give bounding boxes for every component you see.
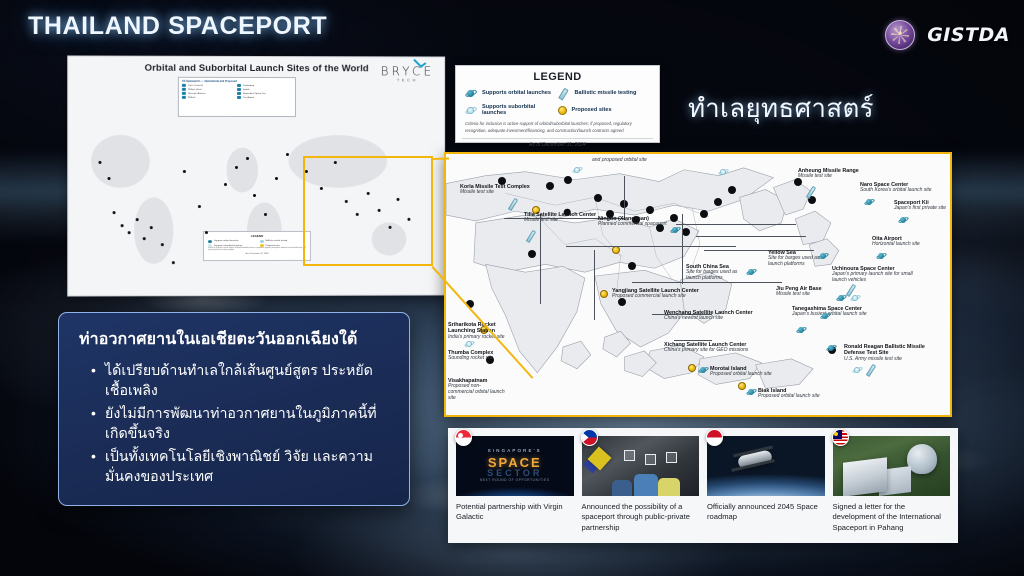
slide-title: THAILAND SPACEPORT — [28, 12, 327, 41]
panel-bullet-list: ได้เปรียบด้านทำเลใกล้เส้นศูนย์สูตร ประหย… — [79, 362, 391, 488]
map-label-morotai: Morotai Island Proposed orbital launch s… — [710, 366, 772, 378]
photo-thumbnail — [707, 436, 825, 496]
divider — [462, 138, 653, 139]
photo-card-philippines[interactable]: Announced the possibility of a spaceport… — [582, 436, 700, 537]
orbital-planet-icon — [465, 89, 477, 98]
legend-criteria-note: Criteria for inclusion is active support… — [456, 121, 659, 134]
thai-headline: ทำเลยุทธศาสตร์ — [688, 88, 874, 129]
map-label-korla: Korla Missile Test Complex Missile test … — [460, 184, 530, 196]
map-label-uchinoura: Uchinoura Space Center Japan's primary l… — [832, 266, 928, 284]
country-photo-strip: SINGAPORE'S SPACE SECTOR NEXT ROUND OF O… — [448, 428, 958, 543]
presentation-slide: THAILAND SPACEPORT GISTDA ทำเลยุทธศาสตร์… — [0, 0, 1024, 576]
legend-date: As of December 31, 2024 — [456, 142, 659, 148]
map-label-naro: Naro Space Center South Korea's orbital … — [860, 182, 932, 194]
photo-caption: Signed a letter for the development of t… — [833, 502, 951, 533]
legend-label: Proposed sites — [572, 107, 612, 113]
panel-heading: ท่าอวกาศยานในเอเชียตะวันออกเฉียงใต้ — [79, 327, 391, 352]
legend-title: LEGEND — [456, 71, 659, 83]
map-label-visakhapatnam: Visakhapatnam Proposed non-commercial or… — [448, 378, 506, 402]
thai-content-panel: ท่าอวกาศยานในเอเชียตะวันออกเฉียงใต้ ได้เ… — [58, 312, 410, 506]
logo-group: GISTDA — [885, 20, 1010, 50]
asia-detail-map[interactable]: and proposed orbital site — [444, 152, 952, 417]
list-item: ยังไม่มีการพัฒนาท่าอวกาศยานในภูมิภาคนี้ท… — [91, 405, 391, 444]
asia-map-annotations: and proposed orbital site — [446, 154, 950, 415]
map-label-jiu-peng: Jiu Peng Air Base Missile test site — [776, 286, 822, 298]
legend-card: LEGEND Supports orbital launches Ballist… — [455, 65, 660, 143]
photo-thumbnail — [833, 436, 951, 496]
legend-label: Ballistic missile testing — [575, 90, 637, 96]
map-label-spaceport-kii: Spaceport Kii Japan's first private site — [894, 200, 946, 212]
map-label-yangjiang: Yangjiang Satellite Launch Center Propos… — [612, 288, 699, 300]
map-label-wenchang: Wenchang Satellite Launch Center China's… — [664, 310, 753, 322]
photo-card-malaysia[interactable]: Signed a letter for the development of t… — [833, 436, 951, 537]
world-map-body: US Spaceports — Operational and Proposed… — [72, 75, 440, 292]
art-line-3: SECTOR — [456, 468, 574, 478]
philippines-flag-icon — [581, 429, 598, 446]
list-item: เป็นทั้งเทคโนโลยีเชิงพาณิชย์ วิจัย และคว… — [91, 448, 391, 487]
spacecraft-orbit-art — [707, 436, 825, 496]
map-label-ronald-reagan: Ronald Reagan Ballistic Missile Defense … — [844, 344, 942, 363]
photo-caption: Announced the possibility of a spaceport… — [582, 502, 700, 533]
art-line-4: NEXT ROUND OF OPPORTUNITIES — [456, 478, 574, 482]
legend-label: Supports orbital launches — [482, 90, 551, 96]
suborbital-planet-icon — [465, 106, 477, 115]
photo-card-indonesia[interactable]: Officially announced 2045 Space roadmap — [707, 436, 825, 537]
map-label-tanegashima: Tanegashima Space Center Japan's busiest… — [792, 306, 892, 318]
photo-caption: Potential partnership with Virgin Galact… — [456, 502, 574, 523]
legend-label: Supports suborbital launches — [482, 104, 558, 116]
map-label-south-china-sea: South China Sea Site for barges used as … — [686, 264, 750, 282]
malaysia-flag-icon — [832, 429, 849, 446]
legend-item-missile: Ballistic missile testing — [558, 88, 651, 98]
proposed-dot-icon — [558, 106, 567, 115]
singapore-space-sector-art: SINGAPORE'S SPACE SECTOR NEXT ROUND OF O… — [456, 436, 574, 496]
royal-seal-icon — [885, 20, 915, 50]
satellite-assembly-art — [582, 436, 700, 496]
photo-thumbnail: SINGAPORE'S SPACE SECTOR NEXT ROUND OF O… — [456, 436, 574, 496]
map-label-thumba: Thumba Complex Sounding rocket site — [448, 350, 500, 362]
observatory-building-art — [833, 436, 951, 496]
world-map-markers — [72, 75, 440, 292]
singapore-flag-icon — [455, 429, 472, 446]
asia-top-note: and proposed orbital site — [592, 157, 647, 163]
missile-icon — [558, 88, 570, 98]
map-label-tilla: Tilla Satellite Launch Center Missile te… — [524, 212, 596, 224]
photo-thumbnail — [582, 436, 700, 496]
photo-caption: Officially announced 2045 Space roadmap — [707, 502, 825, 523]
legend-item-suborbital: Supports suborbital launches — [465, 104, 558, 116]
legend-item-proposed: Proposed sites — [558, 104, 651, 116]
map-label-xichang: Xichang Satellite Launch Center China's … — [664, 342, 748, 354]
map-label-ningbo: Ningbo (Xiangshan) Planned commercial sp… — [598, 216, 670, 228]
legend-items: Supports orbital launches Ballistic miss… — [456, 83, 659, 122]
map-label-biak: Biak Island Proposed orbital launch site — [758, 388, 820, 400]
map-label-oita: Oita Airport Horizontal launch site — [872, 236, 920, 248]
map-label-anheung: Anheung Missile Range Missile test site — [798, 168, 859, 180]
art-line-1: SINGAPORE'S — [456, 448, 574, 453]
list-item: ได้เปรียบด้านทำเลใกล้เส้นศูนย์สูตร ประหย… — [91, 362, 391, 401]
gistda-wordmark: GISTDA — [927, 24, 1010, 46]
photo-card-singapore[interactable]: SINGAPORE'S SPACE SECTOR NEXT ROUND OF O… — [456, 436, 574, 537]
world-map-card[interactable]: Orbital and Suborbital Launch Sites of t… — [67, 55, 445, 296]
indonesia-flag-icon — [706, 429, 723, 446]
legend-item-orbital: Supports orbital launches — [465, 88, 558, 98]
